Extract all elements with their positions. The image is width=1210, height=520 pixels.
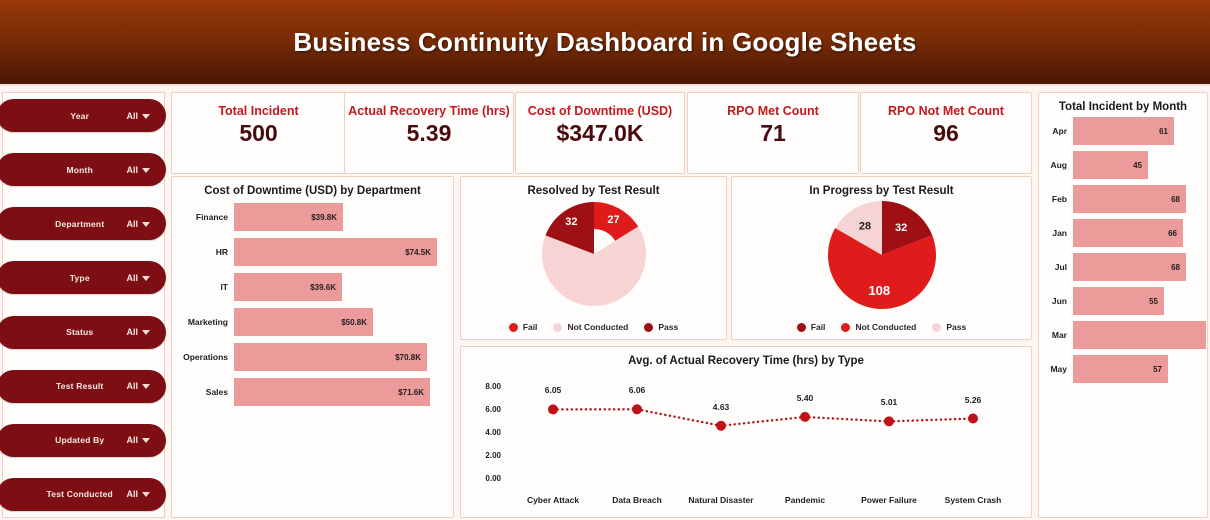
- chart-title: Total Incident by Month: [1039, 93, 1207, 113]
- filter-value-group[interactable]: All: [126, 165, 152, 175]
- legend-item[interactable]: Pass: [932, 322, 966, 332]
- bar-value-label: $71.6K: [398, 388, 424, 397]
- x-axis-tick-label: Natural Disaster: [688, 495, 753, 505]
- bar-category-label: Jun: [1043, 296, 1073, 306]
- bar-category-label: Jul: [1043, 262, 1073, 272]
- bar-row: IT$39.6K: [176, 273, 443, 301]
- bar-category-label: Finance: [176, 212, 234, 222]
- filter-selected-value: All: [126, 381, 138, 391]
- bar-category-label: HR: [176, 247, 234, 257]
- bar-row: Mar: [1043, 321, 1207, 349]
- bar-fill: 57: [1073, 355, 1168, 383]
- chart-cost-of-downtime-by-department: Cost of Downtime (USD) by Department Fin…: [171, 176, 454, 518]
- bar-fill: 68: [1073, 253, 1186, 281]
- data-point-label: 6.06: [629, 385, 646, 395]
- bar-row: Finance$39.8K: [176, 203, 443, 231]
- bar-track: [1073, 321, 1207, 349]
- bar-value-label: $50.8K: [341, 318, 367, 327]
- kpi-label: Cost of Downtime (USD): [528, 104, 672, 118]
- legend-item[interactable]: Pass: [644, 322, 678, 332]
- bar-category-label: Aug: [1043, 160, 1073, 170]
- filter-value-group[interactable]: All: [126, 327, 152, 337]
- chart-total-incident-by-month: Total Incident by Month Apr61Aug45Feb68J…: [1038, 92, 1208, 518]
- x-axis-tick-label: Power Failure: [861, 495, 917, 505]
- filter-chip-test-conducted[interactable]: Test ConductedAll: [0, 478, 166, 511]
- legend-color-swatch: [553, 323, 562, 332]
- data-point-marker: [632, 404, 642, 414]
- bar-fill: [1073, 321, 1206, 349]
- data-point-marker: [716, 421, 726, 431]
- bar-track: 68: [1073, 185, 1207, 213]
- legend-label: Fail: [523, 322, 538, 332]
- filter-value-group[interactable]: All: [126, 435, 152, 445]
- pie-slice-label: 28: [858, 221, 870, 233]
- kpi-card-total-incident: Total Incident 500: [171, 92, 346, 174]
- bar-value-label: $74.5K: [405, 248, 431, 257]
- bar-track: $71.6K: [234, 378, 443, 406]
- filter-label: Department: [7, 219, 126, 229]
- x-axis-tick-label: Data Breach: [612, 495, 662, 505]
- legend-label: Not Conducted: [855, 322, 916, 332]
- page-title: Business Continuity Dashboard in Google …: [293, 27, 916, 58]
- chart-title: In Progress by Test Result: [732, 177, 1031, 197]
- filter-chip-department[interactable]: DepartmentAll: [0, 207, 166, 240]
- legend-color-swatch: [797, 323, 806, 332]
- chevron-down-icon[interactable]: [142, 438, 150, 443]
- dashboard-header: Business Continuity Dashboard in Google …: [0, 0, 1210, 86]
- chart-title: Cost of Downtime (USD) by Department: [172, 177, 453, 197]
- chevron-down-icon[interactable]: [142, 384, 150, 389]
- pie-slice-label: 32: [565, 216, 577, 228]
- filter-sidebar: YearAllMonthAllDepartmentAllTypeAllStatu…: [2, 92, 165, 518]
- filter-label: Year: [7, 111, 126, 121]
- kpi-label: RPO Met Count: [727, 104, 819, 118]
- filter-selected-value: All: [126, 489, 138, 499]
- filter-value-group[interactable]: All: [126, 111, 152, 121]
- bar-track: $39.6K: [234, 273, 443, 301]
- data-point-marker: [548, 404, 558, 414]
- bar-value-label: $39.6K: [310, 283, 336, 292]
- filter-chip-type[interactable]: TypeAll: [0, 261, 166, 294]
- filter-selected-value: All: [126, 327, 138, 337]
- filter-label: Month: [7, 165, 126, 175]
- bar-track: $74.5K: [234, 238, 443, 266]
- filter-selected-value: All: [126, 273, 138, 283]
- line-path: [553, 409, 973, 425]
- legend-item[interactable]: Fail: [509, 322, 538, 332]
- bar-category-label: Feb: [1043, 194, 1073, 204]
- bar-value-label: 57: [1153, 365, 1162, 374]
- legend-item[interactable]: Not Conducted: [553, 322, 628, 332]
- filter-label: Test Conducted: [7, 489, 126, 499]
- x-axis-tick-label: System Crash: [945, 495, 1002, 505]
- bar-category-label: Mar: [1043, 330, 1073, 340]
- kpi-value: $347.0K: [557, 120, 644, 147]
- data-point-label: 5.40: [797, 393, 814, 403]
- filter-chip-test-result[interactable]: Test ResultAll: [0, 370, 166, 403]
- bar-track: 55: [1073, 287, 1207, 315]
- kpi-value: 96: [933, 120, 959, 147]
- bar-category-label: IT: [176, 282, 234, 292]
- kpi-value: 500: [239, 120, 277, 147]
- bar-fill: $71.6K: [234, 378, 430, 406]
- legend-item[interactable]: Not Conducted: [841, 322, 916, 332]
- bar-track: 66: [1073, 219, 1207, 247]
- bar-value-label: 68: [1171, 263, 1180, 272]
- pie-slice-label: 27: [607, 214, 619, 226]
- filter-value-group[interactable]: All: [126, 219, 152, 229]
- filter-selected-value: All: [126, 435, 138, 445]
- bar-value-label: $39.8K: [311, 213, 337, 222]
- bar-row: Apr61: [1043, 117, 1207, 145]
- bar-category-label: Jan: [1043, 228, 1073, 238]
- filter-label: Type: [7, 273, 126, 283]
- filter-label: Status: [7, 327, 126, 337]
- legend-color-swatch: [509, 323, 518, 332]
- donut-graphic: 2710832: [461, 199, 726, 309]
- bar-value-label: 45: [1133, 161, 1142, 170]
- bar-track: 61: [1073, 117, 1207, 145]
- legend-label: Not Conducted: [567, 322, 628, 332]
- bar-row: HR$74.5K: [176, 238, 443, 266]
- data-point-label: 6.05: [545, 385, 562, 395]
- bar-fill: 68: [1073, 185, 1186, 213]
- kpi-card-actual-recovery-time: Actual Recovery Time (hrs) 5.39: [344, 92, 514, 174]
- chevron-down-icon[interactable]: [142, 168, 150, 173]
- bar-fill: $39.6K: [234, 273, 342, 301]
- bar-value-label: 55: [1149, 297, 1158, 306]
- kpi-card-rpo-not-met-count: RPO Not Met Count 96: [860, 92, 1032, 174]
- bar-track: $50.8K: [234, 308, 443, 336]
- chart-resolved-by-test-result: Resolved by Test Result 2710832 FailNot …: [460, 176, 727, 340]
- chart-legend: FailNot ConductedPass: [461, 322, 726, 332]
- legend-color-swatch: [841, 323, 850, 332]
- bar-row: Marketing$50.8K: [176, 308, 443, 336]
- legend-color-swatch: [644, 323, 653, 332]
- bar-category-label: May: [1043, 364, 1073, 374]
- chart-in-progress-by-test-result: In Progress by Test Result 3210828 FailN…: [731, 176, 1032, 340]
- filter-value-group[interactable]: All: [126, 381, 152, 391]
- bar-category-label: Operations: [176, 352, 234, 362]
- bar-row: May57: [1043, 355, 1207, 383]
- bar-fill: 45: [1073, 151, 1148, 179]
- filter-value-group[interactable]: All: [126, 489, 152, 499]
- bar-category-label: Sales: [176, 387, 234, 397]
- filter-chip-month[interactable]: MonthAll: [0, 153, 166, 186]
- bar-value-label: 66: [1168, 229, 1177, 238]
- bar-track: 45: [1073, 151, 1207, 179]
- bar-row: Feb68: [1043, 185, 1207, 213]
- bar-track: $39.8K: [234, 203, 443, 231]
- legend-label: Fail: [811, 322, 826, 332]
- x-axis-tick-label: Pandemic: [785, 495, 825, 505]
- filter-label: Test Result: [7, 381, 126, 391]
- bar-list: Apr61Aug45Feb68Jan66Jul68Jun55MarMay57: [1039, 113, 1207, 393]
- chevron-down-icon[interactable]: [142, 330, 150, 335]
- data-point-label: 5.01: [881, 397, 898, 407]
- kpi-value: 5.39: [407, 120, 452, 147]
- kpi-label: RPO Not Met Count: [888, 104, 1004, 118]
- bar-category-label: Apr: [1043, 126, 1073, 136]
- data-point-marker: [968, 414, 978, 424]
- bar-list: Finance$39.8KHR$74.5KIT$39.6KMarketing$5…: [172, 197, 453, 419]
- pie-svg: 3210828: [826, 199, 938, 311]
- bar-value-label: $70.8K: [395, 353, 421, 362]
- bar-row: Operations$70.8K: [176, 343, 443, 371]
- bar-value-label: 61: [1159, 127, 1168, 136]
- data-point-label: 4.63: [713, 402, 730, 412]
- bar-track: 57: [1073, 355, 1207, 383]
- dashboard-root: Business Continuity Dashboard in Google …: [0, 0, 1210, 520]
- bar-category-label: Marketing: [176, 317, 234, 327]
- bar-fill: $39.8K: [234, 203, 343, 231]
- kpi-card-cost-of-downtime: Cost of Downtime (USD) $347.0K: [515, 92, 685, 174]
- chart-title: Avg. of Actual Recovery Time (hrs) by Ty…: [461, 347, 1031, 367]
- pie-svg: 2710832: [539, 199, 649, 309]
- filter-selected-value: All: [126, 111, 138, 121]
- bar-track: 68: [1073, 253, 1207, 281]
- pie-slice-label: 32: [895, 222, 907, 234]
- bar-track: $70.8K: [234, 343, 443, 371]
- filter-label: Updated By: [7, 435, 126, 445]
- filter-chip-updated-by[interactable]: Updated ByAll: [0, 424, 166, 457]
- chart-avg-recovery-time-by-type: Avg. of Actual Recovery Time (hrs) by Ty…: [460, 346, 1032, 518]
- chevron-down-icon[interactable]: [142, 114, 150, 119]
- filter-selected-value: All: [126, 165, 138, 175]
- pie-slice-label: 108: [868, 283, 890, 298]
- chevron-down-icon[interactable]: [142, 492, 150, 497]
- filter-selected-value: All: [126, 219, 138, 229]
- legend-label: Pass: [658, 322, 678, 332]
- chevron-down-icon[interactable]: [142, 276, 150, 281]
- bar-row: Jun55: [1043, 287, 1207, 315]
- chart-legend: FailNot ConductedPass: [732, 322, 1031, 332]
- x-axis-tick-label: Cyber Attack: [527, 495, 579, 505]
- bar-fill: 61: [1073, 117, 1174, 145]
- legend-item[interactable]: Fail: [797, 322, 826, 332]
- filter-chip-status[interactable]: StatusAll: [0, 316, 166, 349]
- data-point-marker: [884, 416, 894, 426]
- pie-graphic: 3210828: [732, 199, 1031, 311]
- data-point-label: 5.26: [965, 395, 982, 405]
- kpi-card-rpo-met-count: RPO Met Count 71: [687, 92, 859, 174]
- kpi-label: Total Incident: [218, 104, 298, 118]
- data-point-marker: [800, 412, 810, 422]
- bar-fill: 55: [1073, 287, 1164, 315]
- line-plot-area: 0.002.004.006.008.006.05Cyber Attack6.06…: [461, 369, 1031, 509]
- filter-chip-year[interactable]: YearAll: [0, 99, 166, 132]
- legend-label: Pass: [946, 322, 966, 332]
- chart-title: Resolved by Test Result: [461, 177, 726, 197]
- bar-fill: $50.8K: [234, 308, 373, 336]
- bar-row: Jul68: [1043, 253, 1207, 281]
- kpi-value: 71: [760, 120, 786, 147]
- bar-fill: $74.5K: [234, 238, 437, 266]
- bar-value-label: 68: [1171, 195, 1180, 204]
- filter-value-group[interactable]: All: [126, 273, 152, 283]
- bar-row: Sales$71.6K: [176, 378, 443, 406]
- kpi-label: Actual Recovery Time (hrs): [348, 104, 510, 118]
- bar-row: Aug45: [1043, 151, 1207, 179]
- chevron-down-icon[interactable]: [142, 222, 150, 227]
- legend-color-swatch: [932, 323, 941, 332]
- bar-row: Jan66: [1043, 219, 1207, 247]
- bar-fill: 66: [1073, 219, 1183, 247]
- bar-fill: $70.8K: [234, 343, 427, 371]
